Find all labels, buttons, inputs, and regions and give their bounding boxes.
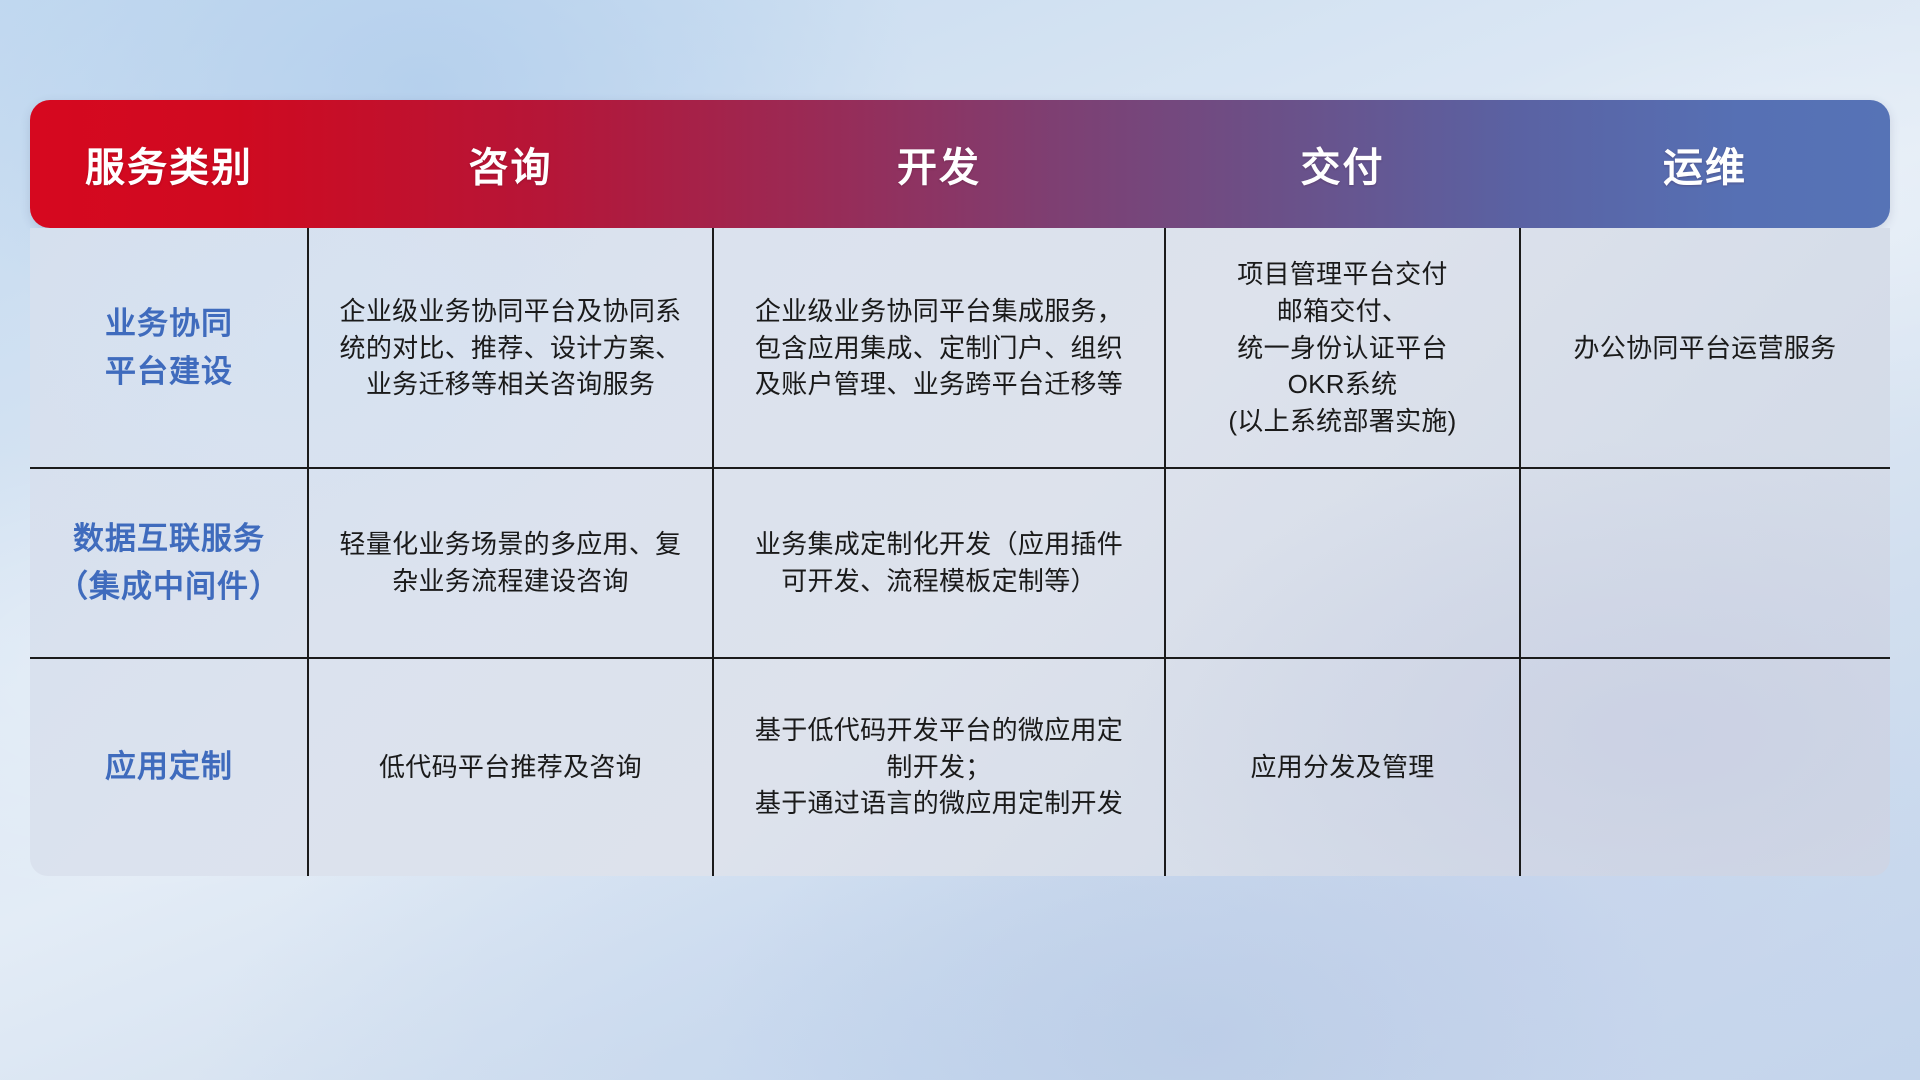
- category-label: 数据互联服务 （集成中间件）: [57, 515, 281, 611]
- category-label: 业务协同 平台建设: [105, 300, 233, 396]
- table-cell-development: 基于低代码开发平台的微应用定 制开发； 基于通过语言的微应用定制开发: [713, 658, 1165, 876]
- table-cell-operations: [1520, 658, 1890, 876]
- cell-text: 项目管理平台交付 邮箱交付、 统一身份认证平台 OKR系统 (以上系统部署实施): [1228, 256, 1456, 441]
- table-cell-consulting: 低代码平台推荐及咨询: [308, 658, 713, 876]
- cell-text: 业务集成定制化开发（应用插件 可开发、流程模板定制等）: [755, 526, 1123, 600]
- service-category-table: 服务类别 咨询 开发 交付 运维 业务协同 平台建设 企业级业务协同平台及协同系…: [30, 100, 1890, 876]
- cell-text: 企业级业务协同平台集成服务， 包含应用集成、定制门户、组织 及账户管理、业务跨平…: [755, 293, 1123, 404]
- table-cell-operations: 办公协同平台运营服务: [1520, 228, 1890, 468]
- table-row-category: 应用定制: [30, 658, 308, 876]
- table-header-cell-operations: 运维: [1520, 100, 1890, 228]
- table-cell-delivery: 应用分发及管理: [1165, 658, 1520, 876]
- table-row-category: 业务协同 平台建设: [30, 228, 308, 468]
- table-header-row: 服务类别 咨询 开发 交付 运维: [30, 100, 1890, 228]
- cell-text: 企业级业务协同平台及协同系 统的对比、推荐、设计方案、 业务迁移等相关咨询服务: [340, 293, 682, 404]
- table-row: 应用定制 低代码平台推荐及咨询 基于低代码开发平台的微应用定 制开发； 基于通过…: [30, 658, 1890, 876]
- table-body: 业务协同 平台建设 企业级业务协同平台及协同系 统的对比、推荐、设计方案、 业务…: [30, 228, 1890, 876]
- table-header-label: 交付: [1301, 135, 1385, 193]
- table-cell-operations: [1520, 468, 1890, 658]
- table-cell-delivery: [1165, 468, 1520, 658]
- category-label: 应用定制: [105, 743, 233, 791]
- table-row-category: 数据互联服务 （集成中间件）: [30, 468, 308, 658]
- cell-text: 办公协同平台运营服务: [1573, 330, 1836, 367]
- table-header-label: 服务类别: [85, 135, 253, 193]
- table-header-cell-service-category: 服务类别: [30, 100, 308, 228]
- table-cell-consulting: 轻量化业务场景的多应用、复 杂业务流程建设咨询: [308, 468, 713, 658]
- cell-text: 低代码平台推荐及咨询: [379, 749, 642, 786]
- table-header-cell-delivery: 交付: [1165, 100, 1520, 228]
- table-header-cell-consulting: 咨询: [308, 100, 713, 228]
- table-cell-development: 企业级业务协同平台集成服务， 包含应用集成、定制门户、组织 及账户管理、业务跨平…: [713, 228, 1165, 468]
- table-header-label: 咨询: [469, 135, 553, 193]
- table-header-cell-development: 开发: [713, 100, 1165, 228]
- table-row: 数据互联服务 （集成中间件） 轻量化业务场景的多应用、复 杂业务流程建设咨询 业…: [30, 468, 1890, 658]
- table-cell-delivery: 项目管理平台交付 邮箱交付、 统一身份认证平台 OKR系统 (以上系统部署实施): [1165, 228, 1520, 468]
- cell-text: 应用分发及管理: [1250, 749, 1434, 786]
- table-row: 业务协同 平台建设 企业级业务协同平台及协同系 统的对比、推荐、设计方案、 业务…: [30, 228, 1890, 468]
- cell-text: 基于低代码开发平台的微应用定 制开发； 基于通过语言的微应用定制开发: [755, 712, 1123, 823]
- table-cell-consulting: 企业级业务协同平台及协同系 统的对比、推荐、设计方案、 业务迁移等相关咨询服务: [308, 228, 713, 468]
- cell-text: 轻量化业务场景的多应用、复 杂业务流程建设咨询: [340, 526, 682, 600]
- table-header-label: 运维: [1663, 135, 1747, 193]
- table-header-label: 开发: [897, 135, 981, 193]
- table-cell-development: 业务集成定制化开发（应用插件 可开发、流程模板定制等）: [713, 468, 1165, 658]
